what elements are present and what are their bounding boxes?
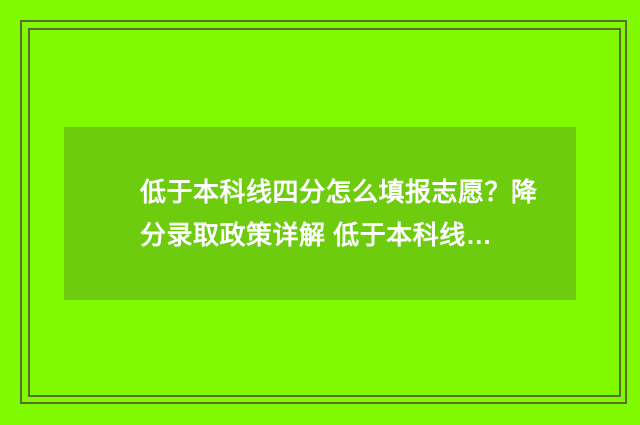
headline-text: 低于本科线四分怎么填报志愿？降 分录取政策详解 低于本科线… — [140, 171, 538, 257]
headline-panel: 低于本科线四分怎么填报志愿？降 分录取政策详解 低于本科线… — [64, 127, 576, 300]
poster-canvas: 低于本科线四分怎么填报志愿？降 分录取政策详解 低于本科线… — [0, 0, 640, 425]
